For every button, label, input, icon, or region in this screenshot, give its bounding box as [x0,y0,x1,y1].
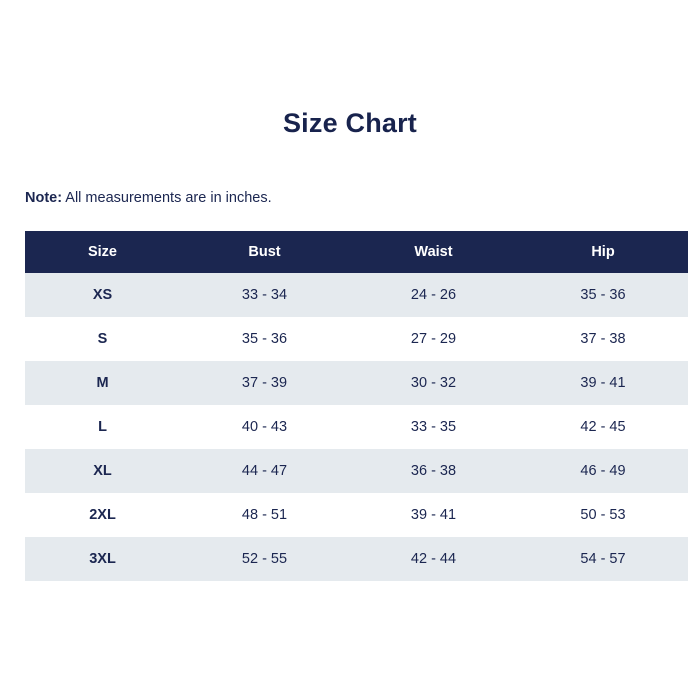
cell-waist: 30 - 32 [349,361,518,405]
table-header-row: Size Bust Waist Hip [25,231,688,273]
cell-size: 2XL [25,493,180,537]
column-header-size: Size [25,231,180,273]
cell-waist: 39 - 41 [349,493,518,537]
cell-hip: 37 - 38 [518,317,688,361]
table-body: XS 33 - 34 24 - 26 35 - 36 S 35 - 36 27 … [25,273,688,581]
cell-waist: 24 - 26 [349,273,518,317]
table-row: S 35 - 36 27 - 29 37 - 38 [25,317,688,361]
table-row: XL 44 - 47 36 - 38 46 - 49 [25,449,688,493]
cell-size: XS [25,273,180,317]
cell-hip: 50 - 53 [518,493,688,537]
cell-hip: 39 - 41 [518,361,688,405]
measurement-note: Note: All measurements are in inches. [25,190,272,206]
cell-bust: 33 - 34 [180,273,349,317]
size-chart-table: Size Bust Waist Hip XS 33 - 34 24 - 26 3… [25,231,688,581]
table-row: 3XL 52 - 55 42 - 44 54 - 57 [25,537,688,581]
table-row: XS 33 - 34 24 - 26 35 - 36 [25,273,688,317]
table-row: 2XL 48 - 51 39 - 41 50 - 53 [25,493,688,537]
table-row: M 37 - 39 30 - 32 39 - 41 [25,361,688,405]
page-title: Size Chart [0,108,700,139]
cell-size: L [25,405,180,449]
cell-waist: 33 - 35 [349,405,518,449]
cell-hip: 42 - 45 [518,405,688,449]
cell-hip: 46 - 49 [518,449,688,493]
cell-waist: 36 - 38 [349,449,518,493]
note-label: Note: [25,190,62,206]
column-header-bust: Bust [180,231,349,273]
cell-bust: 37 - 39 [180,361,349,405]
cell-bust: 44 - 47 [180,449,349,493]
size-chart-page: Size Chart Note: All measurements are in… [0,0,700,700]
cell-bust: 48 - 51 [180,493,349,537]
cell-size: XL [25,449,180,493]
column-header-waist: Waist [349,231,518,273]
column-header-hip: Hip [518,231,688,273]
table-row: L 40 - 43 33 - 35 42 - 45 [25,405,688,449]
cell-size: M [25,361,180,405]
table-header: Size Bust Waist Hip [25,231,688,273]
cell-bust: 40 - 43 [180,405,349,449]
cell-waist: 27 - 29 [349,317,518,361]
cell-size: S [25,317,180,361]
cell-bust: 35 - 36 [180,317,349,361]
cell-size: 3XL [25,537,180,581]
note-text: All measurements are in inches. [62,190,272,206]
cell-bust: 52 - 55 [180,537,349,581]
cell-hip: 54 - 57 [518,537,688,581]
cell-waist: 42 - 44 [349,537,518,581]
cell-hip: 35 - 36 [518,273,688,317]
